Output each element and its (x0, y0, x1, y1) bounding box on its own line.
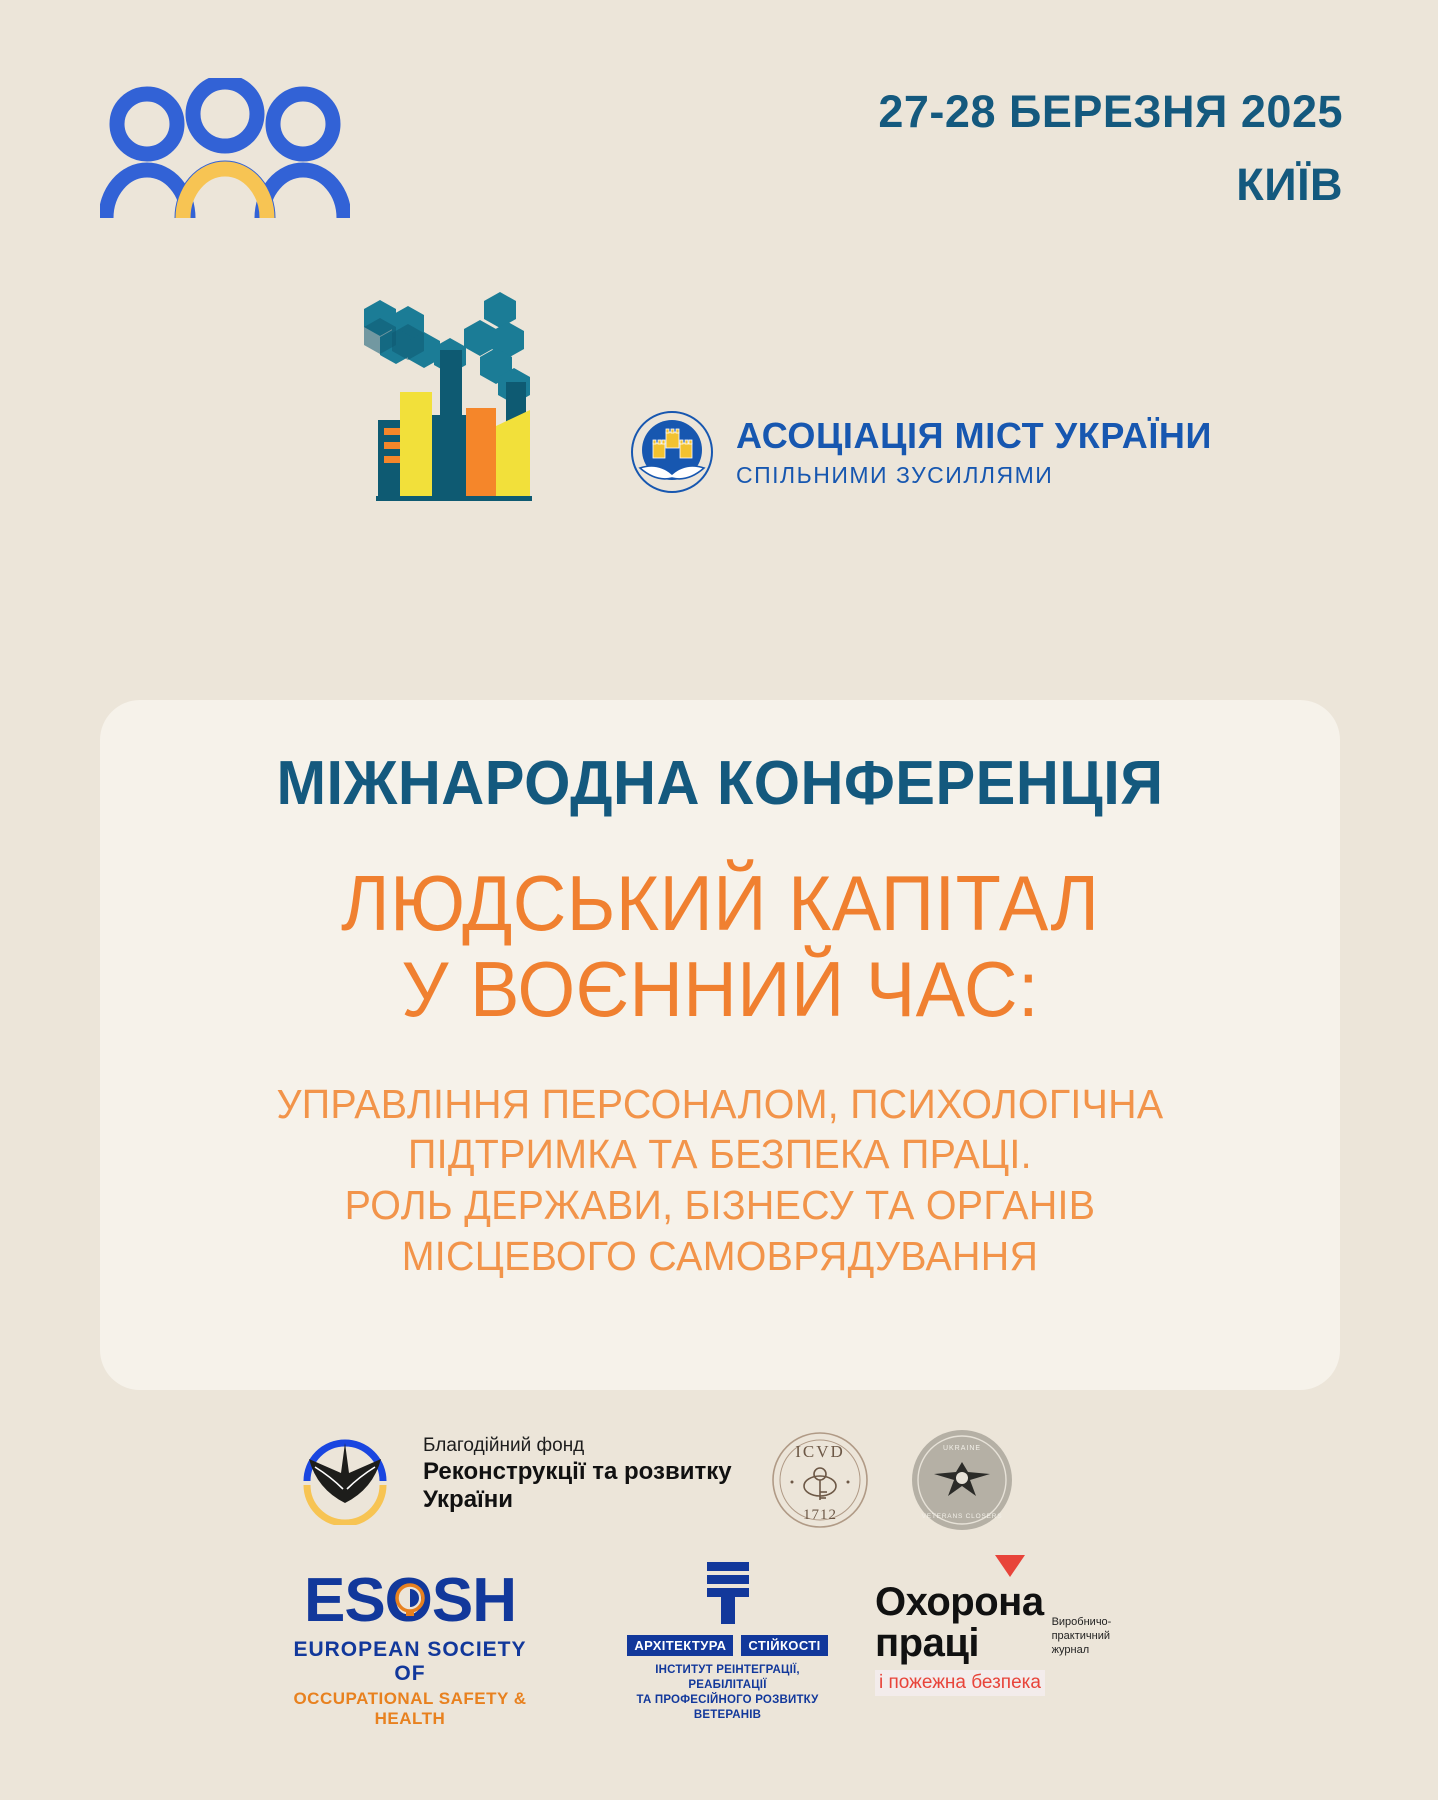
esosh-bulb-icon (393, 1574, 427, 1618)
conference-subtitle-line2: ПІДТРИМКА ТА БЕЗПЕКА ПРАЦІ. (277, 1129, 1164, 1180)
ohorona-pratsi-logo: Охорона праці Виробничо- практичний журн… (875, 1555, 1105, 1696)
conference-kicker: МІЖНАРОДНА КОНФЕРЕНЦІЯ (276, 748, 1163, 819)
three-people-icon (100, 78, 350, 218)
icvd-year: 1712 (803, 1507, 837, 1523)
amu-slogan: СПІЛЬНИМИ ЗУСИЛЛЯМИ (736, 464, 1212, 487)
conference-title: ЛЮДСЬКИЙ КАПІТАЛ У ВОЄННИЙ ЧАС: (341, 861, 1100, 1033)
architecture-logo: АРХІТЕКТУРА СТІЙКОСТІ ІНСТИТУТ РЕІНТЕГРА… (620, 1562, 835, 1723)
conference-title-line2: У ВОЄННИЙ ЧАС: (341, 947, 1100, 1033)
esosh-line2: OCCUPATIONAL SAFETY & HEALTH (280, 1689, 540, 1729)
veterans-closers-seal-icon: UKRAINE VETERANS CLOSERS (910, 1428, 1014, 1532)
architecture-bars-icon (620, 1562, 835, 1629)
event-date: 27-28 БЕРЕЗНЯ 2025 (878, 88, 1343, 135)
esosh-wordmark: ESOSH (280, 1570, 540, 1632)
event-city: КИЇВ (878, 161, 1343, 208)
fund-logo: Благодійний фонд Реконструкції та розвит… (285, 1425, 732, 1525)
architecture-sub2: ТА ПРОФЕСІЙНОГО РОЗВИТКУ ВЕТЕРАНІВ (620, 1693, 835, 1723)
stork-in-ring-icon (285, 1425, 405, 1525)
conference-title-line1: ЛЮДСЬКИЙ КАПІТАЛ (341, 861, 1100, 947)
architecture-tag2: СТІЙКОСТІ (741, 1635, 827, 1656)
conference-subtitle: УПРАВЛІННЯ ПЕРСОНАЛОМ, ПСИХОЛОГІЧНА ПІДТ… (277, 1079, 1164, 1282)
organizer-logos: ПРОМИСЛОВА БЕЗПЕКА (0, 240, 1438, 530)
conference-subtitle-line1: УПРАВЛІННЯ ПЕРСОНАЛОМ, ПСИХОЛОГІЧНА (277, 1079, 1164, 1130)
amu-seal-icon (630, 410, 714, 494)
conference-poster: 27-28 БЕРЕЗНЯ 2025 КИЇВ (0, 0, 1438, 1800)
ohorona-side3: журнал (1052, 1644, 1112, 1658)
conference-title-card: МІЖНАРОДНА КОНФЕРЕНЦІЯ ЛЮДСЬКИЙ КАПІТАЛ … (100, 700, 1340, 1390)
veterans-bottom-label: VETERANS CLOSERS (922, 1513, 1003, 1520)
architecture-tag1: АРХІТЕКТУРА (627, 1635, 733, 1656)
event-date-location: 27-28 БЕРЕЗНЯ 2025 КИЇВ (878, 88, 1343, 209)
icvd-seal-icon: ICVD 1712 (770, 1430, 870, 1530)
red-flag-icon (995, 1555, 1105, 1582)
esosh-logo: ESOSH EUROPEAN SOCIETY OF OCCUPATIONAL S… (280, 1570, 540, 1700)
fund-line2: Реконструкції та розвитку (423, 1458, 732, 1486)
isometric-factory-icon (320, 250, 535, 530)
partner-logos: Благодійний фонд Реконструкції та розвит… (0, 1400, 1438, 1800)
amu-name: АСОЦІАЦІЯ МІСТ УКРАЇНИ (736, 418, 1212, 454)
icvd-label: ICVD (795, 1442, 845, 1461)
conference-subtitle-line4: МІСЦЕВОГО САМОВРЯДУВАННЯ (277, 1231, 1164, 1282)
veterans-top-label: UKRAINE (943, 1445, 981, 1452)
fund-line3: України (423, 1486, 732, 1514)
ohorona-title2: праці (875, 1623, 1044, 1664)
fund-line1: Благодійний фонд (423, 1435, 732, 1457)
esosh-line1: EUROPEAN SOCIETY OF (280, 1638, 540, 1686)
ohorona-tagline: і пожежна безпека (879, 1672, 1041, 1693)
architecture-sub1: ІНСТИТУТ РЕІНТЕГРАЦІЇ, РЕАБІЛІТАЦІЇ (620, 1663, 835, 1693)
ohorona-title1: Охорона (875, 1582, 1044, 1623)
ohorona-side2: практичний (1052, 1630, 1112, 1644)
conference-subtitle-line3: РОЛЬ ДЕРЖАВИ, БІЗНЕСУ ТА ОРГАНІВ (277, 1180, 1164, 1231)
ohorona-side1: Виробничо- (1052, 1616, 1112, 1630)
amu-logo: АСОЦІАЦІЯ МІСТ УКРАЇНИ СПІЛЬНИМИ ЗУСИЛЛЯ… (630, 410, 1212, 494)
